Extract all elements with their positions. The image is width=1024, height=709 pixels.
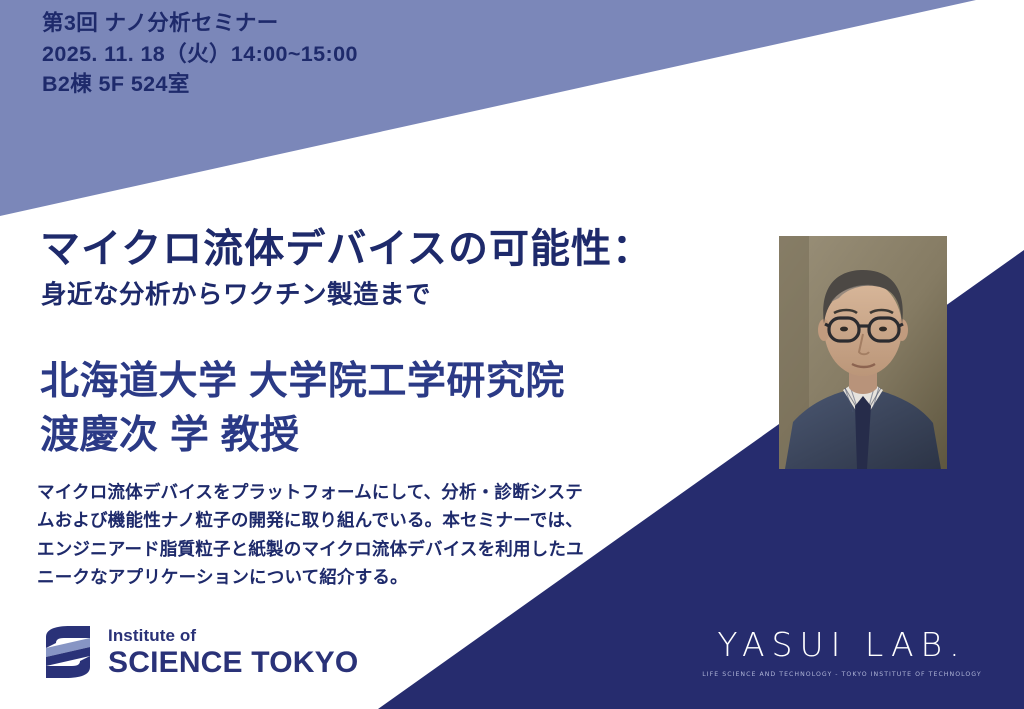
header-info: 第3回 ナノ分析セミナー 2025. 11. 18（火）14:00~15:00 … xyxy=(42,8,358,100)
institute-line2: SCIENCE TOKYO xyxy=(108,648,358,678)
yasui-lab-wordmark: YASUI LAB. xyxy=(702,628,982,661)
seminar-series-title: 第3回 ナノ分析セミナー xyxy=(42,8,358,39)
institute-wordmark: Institute of SCIENCE TOKYO xyxy=(108,627,358,678)
talk-title: マイクロ流体デバイスの可能性： xyxy=(40,216,653,274)
science-tokyo-s-mark-icon xyxy=(42,624,94,680)
seminar-poster: 第3回 ナノ分析セミナー 2025. 11. 18（火）14:00~15:00 … xyxy=(0,0,1024,709)
speaker-name: 渡慶次 学 教授 xyxy=(40,404,300,460)
yasui-lab-tagline: LIFE SCIENCE AND TECHNOLOGY - TOKYO INST… xyxy=(702,671,982,678)
speaker-affiliation: 北海道大学 大学院工学研究院 xyxy=(40,350,565,406)
yasui-lab-logo: YASUI LAB. LIFE SCIENCE AND TECHNOLOGY -… xyxy=(702,628,982,678)
talk-subtitle: 身近な分析からワクチン製造まで xyxy=(41,274,431,311)
institute-of-science-tokyo-logo: Institute of SCIENCE TOKYO xyxy=(42,624,358,680)
seminar-datetime: 2025. 11. 18（火）14:00~15:00 xyxy=(42,39,358,70)
talk-abstract: マイクロ流体デバイスをプラットフォームにして、分析・診断システムおよび機能性ナノ… xyxy=(37,478,597,591)
institute-line1: Institute of xyxy=(108,627,358,644)
seminar-venue: B2棟 5F 524室 xyxy=(42,69,358,100)
speaker-photo xyxy=(779,236,947,469)
